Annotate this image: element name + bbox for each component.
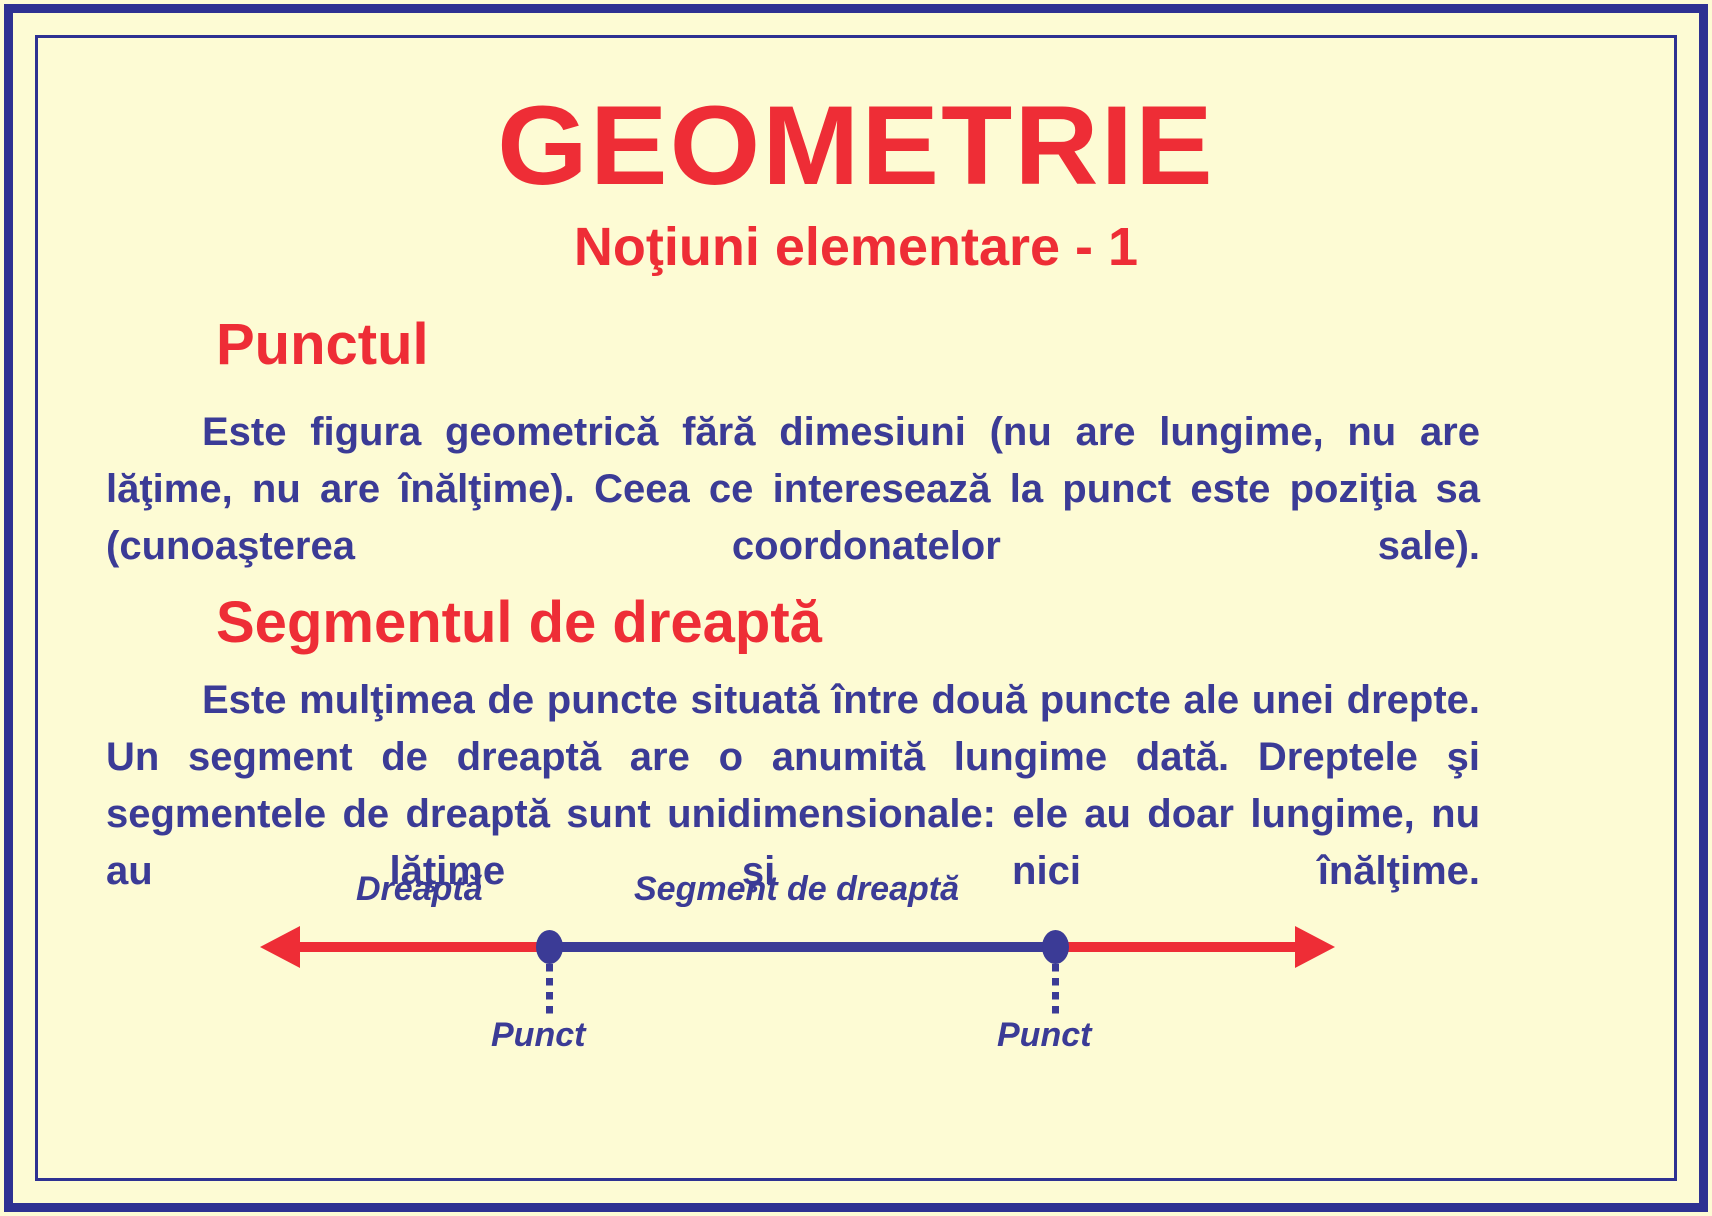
- point-marker-left-icon: [536, 930, 563, 964]
- outer-border: GEOMETRIE Noţiuni elementare - 1 Punctul…: [4, 4, 1708, 1212]
- leader-line-right: [1052, 964, 1059, 1016]
- line-segment-middle: [548, 942, 1054, 952]
- diagram-label-punct-left: Punct: [491, 1016, 585, 1055]
- page-title: GEOMETRIE: [64, 90, 1648, 202]
- section-heading-punctul: Punctul: [216, 316, 429, 374]
- section-heading-segmentul: Segmentul de dreaptă: [216, 594, 822, 652]
- right-arrowhead-icon: [1295, 926, 1335, 968]
- line-segment-diagram: Dreaptă Segment de dreaptă Punct Punct: [64, 864, 1648, 1084]
- leader-line-left: [546, 964, 553, 1016]
- diagram-label-punct-right: Punct: [997, 1016, 1091, 1055]
- poster: GEOMETRIE Noţiuni elementare - 1 Punctul…: [0, 0, 1712, 1216]
- line-ray-right: [1052, 942, 1297, 952]
- diagram-label-dreapta: Dreaptă: [356, 870, 483, 909]
- point-marker-right-icon: [1042, 930, 1069, 964]
- line-ray-left: [294, 942, 550, 952]
- inner-border: GEOMETRIE Noţiuni elementare - 1 Punctul…: [35, 35, 1677, 1181]
- poster-content: GEOMETRIE Noţiuni elementare - 1 Punctul…: [64, 64, 1648, 1152]
- page-subtitle: Noţiuni elementare - 1: [64, 220, 1648, 274]
- diagram-label-segment-de-dreapta: Segment de dreaptă: [634, 870, 959, 909]
